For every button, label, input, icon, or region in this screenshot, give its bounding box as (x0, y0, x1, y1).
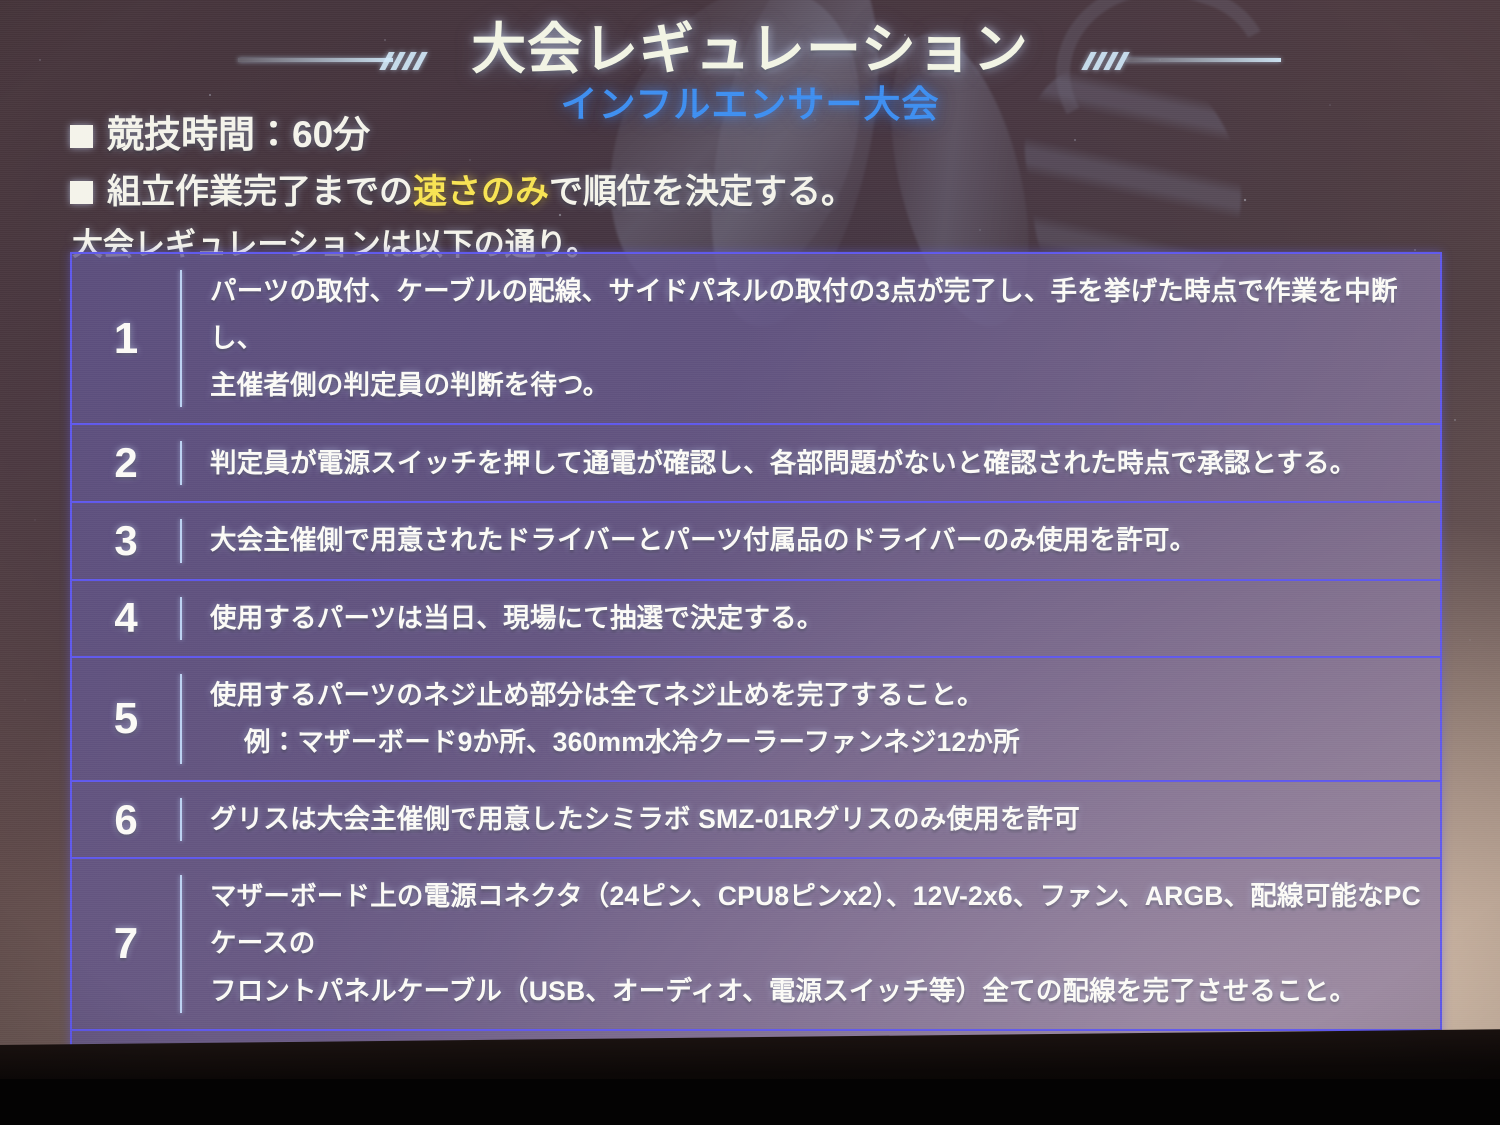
rule-text: グリスは大会主催側で用意したシミラボ SMZ-01Rグリスのみ使用を許可 (182, 782, 1440, 857)
rule-text: 判定員が電源スイッチを押して通電が確認し、各部問題がないと確認された時点で承認と… (182, 425, 1440, 501)
rule-line: 大会主催側で用意されたドライバーとパーツ付属品のドライバーのみ使用を許可。 (210, 517, 1424, 564)
lead-bullet-2-pre: 組立作業完了までの (107, 173, 413, 211)
table-row: 6 グリスは大会主催側で用意したシミラボ SMZ-01Rグリスのみ使用を許可 (72, 780, 1440, 857)
lead-bullet-1-text: 競技時間：60分 (107, 104, 370, 158)
rule-line: 判定員が電源スイッチを押して通電が確認し、各部問題がないと確認された時点で承認と… (210, 440, 1424, 487)
rule-line: パーツの取付、ケーブルの配線、サイドパネルの取付の3点が完了し、手を挙げた時点で… (210, 268, 1424, 362)
rule-number: 4 (72, 581, 180, 656)
rule-line: フロントパネルケーブル（USB、オーディオ、電源スイッチ等）全ての配線を完了させ… (210, 968, 1424, 1015)
lead-bullet-1: 競技時間：60分 (70, 104, 1070, 158)
slide-surface: 大会レギュレーション インフルエンサー大会 競技時間：60分 組立作業完了までの… (0, 0, 1500, 1080)
slashed-rule-right-icon (1086, 52, 1281, 70)
table-row: 3 大会主催側で用意されたドライバーとパーツ付属品のドライバーのみ使用を許可。 (72, 501, 1440, 578)
rule-line: 主催者側の判定員の判断を待つ。 (210, 362, 1424, 409)
title-block: 大会レギュレーション (0, 4, 1500, 68)
rule-line: 使用するパーツは当日、現場にて抽選で決定する。 (210, 595, 1424, 642)
table-row: 1 パーツの取付、ケーブルの配線、サイドパネルの取付の3点が完了し、手を挙げた時… (72, 254, 1440, 423)
lead-bullet-2-text: 組立作業完了までの速さのみで順位を決定する。 (107, 164, 855, 213)
table-row: 7 マザーボード上の電源コネクタ（24ピン、CPU8ピンx2）、12V-2x6、… (72, 857, 1440, 1028)
square-bullet-icon (70, 125, 93, 148)
table-row: 2 判定員が電源スイッチを押して通電が確認し、各部問題がないと確認された時点で承… (72, 423, 1440, 501)
table-row: 5 使用するパーツのネジ止め部分は全てネジ止めを完了すること。 例：マザーボード… (72, 656, 1440, 780)
room-floor-shadow (0, 1079, 1500, 1125)
rule-text: 使用するパーツのネジ止め部分は全てネジ止めを完了すること。 例：マザーボード9か… (182, 658, 1440, 780)
rule-number: 1 (72, 254, 180, 423)
lead-bullet-2: 組立作業完了までの速さのみで順位を決定する。 (70, 164, 1070, 213)
rule-line: グリスは大会主催側で用意したシミラボ SMZ-01Rグリスのみ使用を許可 (210, 796, 1424, 843)
rule-number: 7 (72, 859, 180, 1028)
square-bullet-icon (70, 181, 93, 204)
rule-line: マザーボード上の電源コネクタ（24ピン、CPU8ピンx2）、12V-2x6、ファ… (210, 873, 1424, 967)
rule-number: 6 (72, 782, 180, 857)
rule-number: 2 (72, 425, 180, 501)
lead-bullet-2-post: で順位を決定する。 (549, 173, 855, 211)
page-title: 大会レギュレーション (0, 4, 1500, 84)
rule-line-example: 例：マザーボード9か所、360mm水冷クーラーファンネジ12か所 (210, 719, 1424, 766)
rule-number: 3 (72, 503, 180, 578)
table-row: 4 使用するパーツは当日、現場にて抽選で決定する。 (72, 579, 1440, 656)
rule-text: 大会主催側で用意されたドライバーとパーツ付属品のドライバーのみ使用を許可。 (182, 503, 1440, 578)
rule-number: 5 (72, 658, 180, 780)
lead-block: 競技時間：60分 組立作業完了までの速さのみで順位を決定する。 大会レギュレーシ… (70, 104, 1070, 270)
rules-table: 1 パーツの取付、ケーブルの配線、サイドパネルの取付の3点が完了し、手を挙げた時… (70, 252, 1442, 1080)
projected-slide-photo: 大会レギュレーション インフルエンサー大会 競技時間：60分 組立作業完了までの… (0, 0, 1500, 1125)
rule-text: マザーボード上の電源コネクタ（24ピン、CPU8ピンx2）、12V-2x6、ファ… (182, 859, 1440, 1028)
lead-bullet-2-highlight: 速さのみ (413, 173, 549, 211)
rule-line: 使用するパーツのネジ止め部分は全てネジ止めを完了すること。 (210, 672, 1424, 719)
rule-text: 使用するパーツは当日、現場にて抽選で決定する。 (182, 581, 1440, 656)
slashed-rule-left-icon (238, 52, 433, 70)
rule-text: パーツの取付、ケーブルの配線、サイドパネルの取付の3点が完了し、手を挙げた時点で… (182, 254, 1440, 423)
